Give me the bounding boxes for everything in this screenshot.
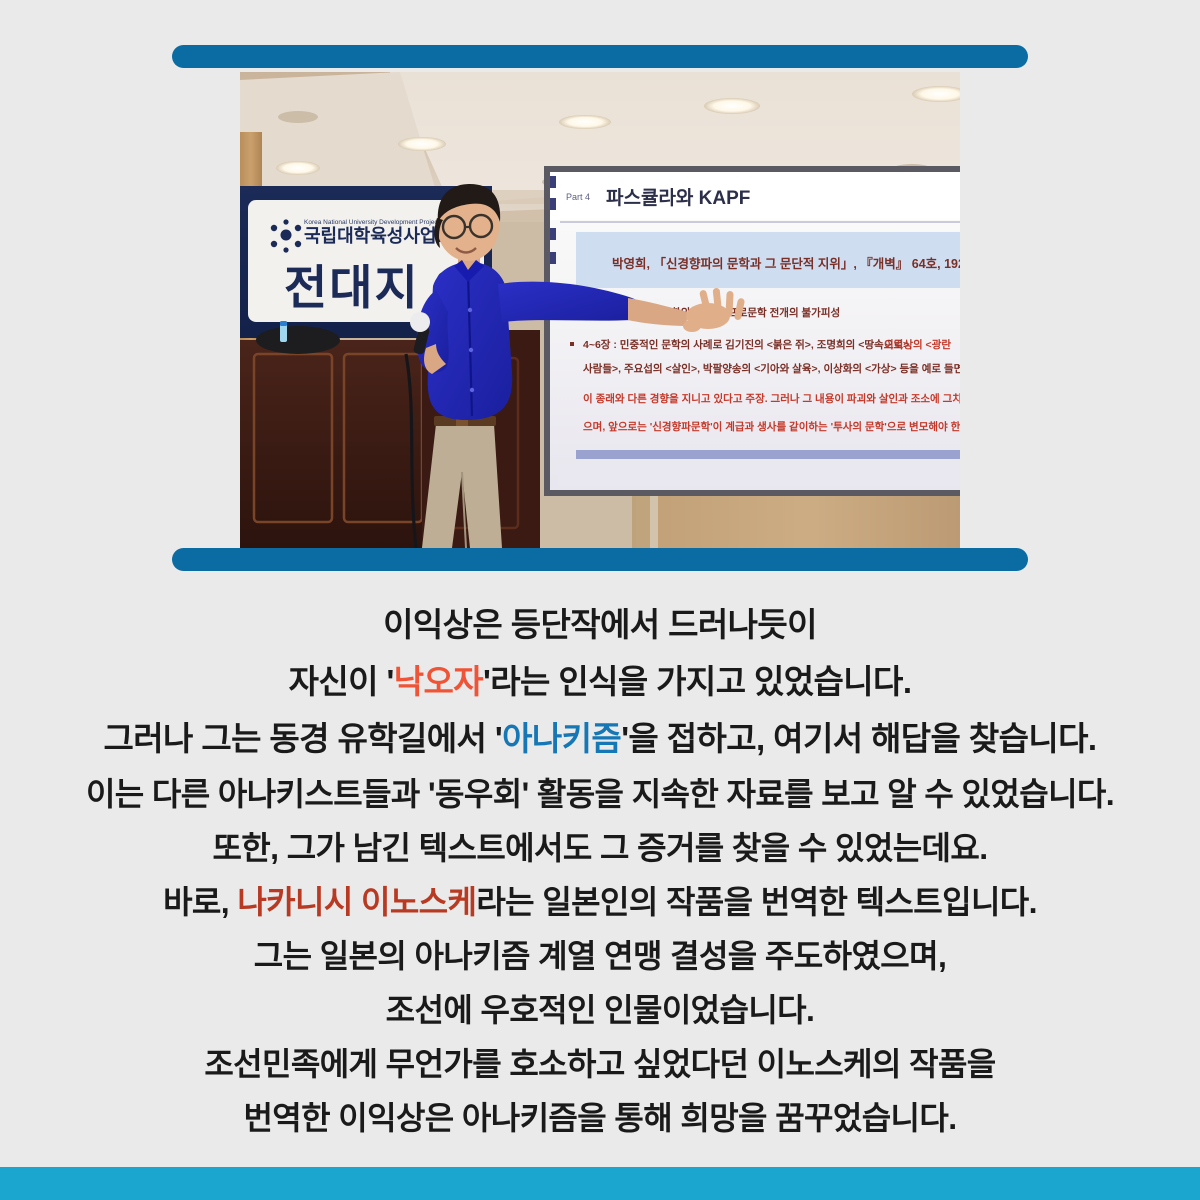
- caption-line-7: 그는 일본의 아나키즘 계열 연맹 결성을 주도하였으며,: [0, 929, 1200, 983]
- accent-bar-top: [172, 45, 1028, 68]
- caption-text: 그는 일본의 아나키즘 계열 연맹 결성을 주도하였으며,: [254, 938, 947, 974]
- svg-text:Korea National University Deve: Korea National University Development Pr…: [304, 219, 440, 226]
- caption-line-6: 바로, 나카니시 이노스케라는 일본인의 작품을 번역한 텍스트입니다.: [0, 875, 1200, 929]
- svg-text:으며, 앞으로는 '신경향파문학'이 계급과 생사를 같이하: 으며, 앞으로는 '신경향파문학'이 계급과 생사를 같이하는 '투사의 문학'…: [583, 420, 960, 433]
- svg-text:국립대학육성사업: 국립대학육성사업: [304, 225, 436, 246]
- caption-text: 이익상은 등단작에서 드러나듯이: [383, 606, 817, 643]
- caption-line-8: 조선에 우호적인 인물이었습니다.: [0, 983, 1200, 1037]
- caption-line-10: 번역한 이익상은 아나키즘을 통해 희망을 꿈꾸었습니다.: [0, 1091, 1200, 1145]
- svg-text:4~6장 : 민중적인 문학의 사례로 김기진의 <붉은 쥐: 4~6장 : 민중적인 문학의 사례로 김기진의 <붉은 쥐>, 조명희의 <땅…: [583, 338, 912, 351]
- caption-text: 조선민족에게 무언가를 호소하고 싶었다던 이노스케의 작품을: [204, 1046, 995, 1082]
- footer-accent-strip: [0, 1167, 1200, 1200]
- caption-text: 번역한 이익상은 아나키즘을 통해 희망을 꿈꾸었습니다.: [243, 1100, 956, 1136]
- photo-illustration: Korea National University Development Pr…: [240, 72, 960, 548]
- caption-line-9: 조선민족에게 무언가를 호소하고 싶었다던 이노스케의 작품을: [0, 1037, 1200, 1091]
- caption-text: 그러나 그는 동경 유학길에서 ': [103, 720, 502, 757]
- caption-line-4: 이는 다른 아나키스트들과 '동우회' 활동을 지속한 자료를 보고 알 수 있…: [0, 767, 1200, 821]
- caption-text: 이는 다른 아나키스트들과 '동우회' 활동을 지속한 자료를 보고 알 수 있…: [86, 776, 1114, 812]
- caption-text: 바로,: [163, 884, 237, 920]
- caption-line-2: 자신이 '낙오자'라는 인식을 가지고 있었습니다.: [0, 653, 1200, 710]
- caption-highlight-orange: 낙오자: [394, 663, 483, 700]
- svg-text:박영희, 「신경향파의 문학과 그 문단적 지위」, 『개벽: 박영희, 「신경향파의 문학과 그 문단적 지위」, 『개벽』 64호, 192: [612, 256, 960, 271]
- svg-text:이익상의 <광란: 이익상의 <광란: [884, 338, 951, 351]
- caption-line-3: 그러나 그는 동경 유학길에서 '아나키즘'을 접하고, 여기서 해답을 찾습니…: [0, 710, 1200, 767]
- accent-bar-bottom: [172, 548, 1028, 571]
- caption-text: '을 접하고, 여기서 해답을 찾습니다.: [621, 720, 1096, 757]
- caption-line-5: 또한, 그가 남긴 텍스트에서도 그 증거를 찾을 수 있었는데요.: [0, 821, 1200, 875]
- svg-text:파스큘라와 KAPF: 파스큘라와 KAPF: [606, 187, 750, 209]
- svg-text:이 종래와 다른 경향을 지니고 있다고 주장. 그러나 그: 이 종래와 다른 경향을 지니고 있다고 주장. 그러나 그 내용이 파괴와 살…: [583, 392, 960, 405]
- presentation-photo: Korea National University Development Pr…: [240, 72, 960, 548]
- caption-text: '라는 인식을 가지고 있었습니다.: [483, 663, 911, 700]
- caption-text: 자신이 ': [289, 663, 394, 700]
- caption-text: 또한, 그가 남긴 텍스트에서도 그 증거를 찾을 수 있었는데요.: [212, 830, 987, 866]
- caption-block: 이익상은 등단작에서 드러나듯이 자신이 '낙오자'라는 인식을 가지고 있었습…: [0, 596, 1200, 1145]
- caption-highlight-blue: 아나키즘: [502, 720, 621, 757]
- hero-section: Korea National University Development Pr…: [0, 0, 1200, 590]
- caption-highlight-brick: 나카니시 이노스케: [237, 884, 476, 920]
- svg-text:Part 4: Part 4: [566, 192, 590, 202]
- caption-text: 조선에 우호적인 인물이었습니다.: [386, 992, 815, 1028]
- caption-text: 라는 일본인의 작품을 번역한 텍스트입니다.: [476, 884, 1037, 920]
- svg-text:사람들>, 주요섭의 <살인>, 박팔양송의 <기아와 살육: 사람들>, 주요섭의 <살인>, 박팔양송의 <기아와 살육>, 이상화의 <가…: [583, 362, 960, 375]
- caption-line-1: 이익상은 등단작에서 드러나듯이: [0, 596, 1200, 653]
